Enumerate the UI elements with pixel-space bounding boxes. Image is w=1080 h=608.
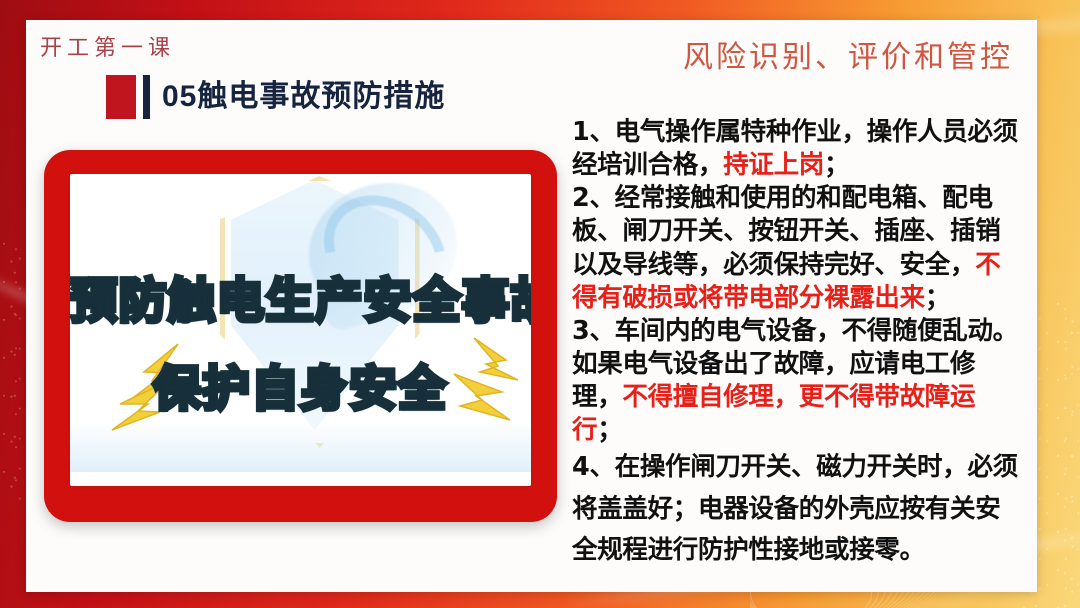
poster-headline-1: 预防触电生产安全事故: [70, 262, 531, 331]
section-heading: 05触电事故预防措施: [106, 74, 445, 120]
poster-headline-1-text: 预防触电生产安全事故: [70, 262, 531, 331]
body-text-run: 4、在操作闸刀开关、磁力开关时，必须将盖盖好；电器设备的外壳应按有关安全规程进行…: [572, 452, 1018, 565]
poster-image: 预防触电生产安全事故 保护自身安全: [70, 174, 531, 486]
deck-kicker: 开工第一课: [40, 30, 175, 62]
slide-canvas: 开工第一课 风险识别、评价和管控 05触电事故预防措施: [0, 0, 1080, 608]
content-item: 4、在操作闸刀开关、磁力开关时，必须将盖盖好；电器设备的外壳应按有关安全规程进行…: [572, 447, 1024, 571]
body-text-run: ；: [824, 150, 849, 180]
navy-bar-marker: [143, 75, 150, 119]
poster-headline-2-text: 保护自身安全: [154, 350, 448, 419]
body-text-run: ；: [925, 283, 950, 313]
poster-headline-2: 保护自身安全: [70, 350, 531, 419]
content-item: 1、电气操作属特种作业，操作人员必须经培训合格，持证上岗；: [572, 116, 1024, 182]
content-item: 3、车间内的电气设备，不得随便乱动。如果电气设备出了故障，应请电工修理，不得擅自…: [572, 315, 1024, 448]
poster-card: 预防触电生产安全事故 保护自身安全: [44, 150, 557, 522]
body-text-run: 2、经常接触和使用的和配电箱、配电板、闸刀开关、按钮开关、插座、插销以及导线等，…: [572, 183, 1000, 279]
slide-page: 开工第一课 风险识别、评价和管控 05触电事故预防措施: [26, 20, 1037, 592]
deck-title: 风险识别、评价和管控: [683, 32, 1013, 76]
body-text-run: ；: [597, 415, 622, 445]
section-title: 05触电事故预防措施: [162, 75, 445, 119]
content-list: 1、电气操作属特种作业，操作人员必须经培训合格，持证上岗；2、经常接触和使用的和…: [572, 116, 1024, 571]
emphasis-text: 持证上岗: [723, 150, 824, 180]
content-item: 2、经常接触和使用的和配电箱、配电板、闸刀开关、按钮开关、插座、插销以及导线等，…: [572, 182, 1024, 315]
red-square-marker: [106, 75, 136, 119]
emphasis-text: 不得擅自修理，更不得带故障运行: [572, 382, 975, 445]
